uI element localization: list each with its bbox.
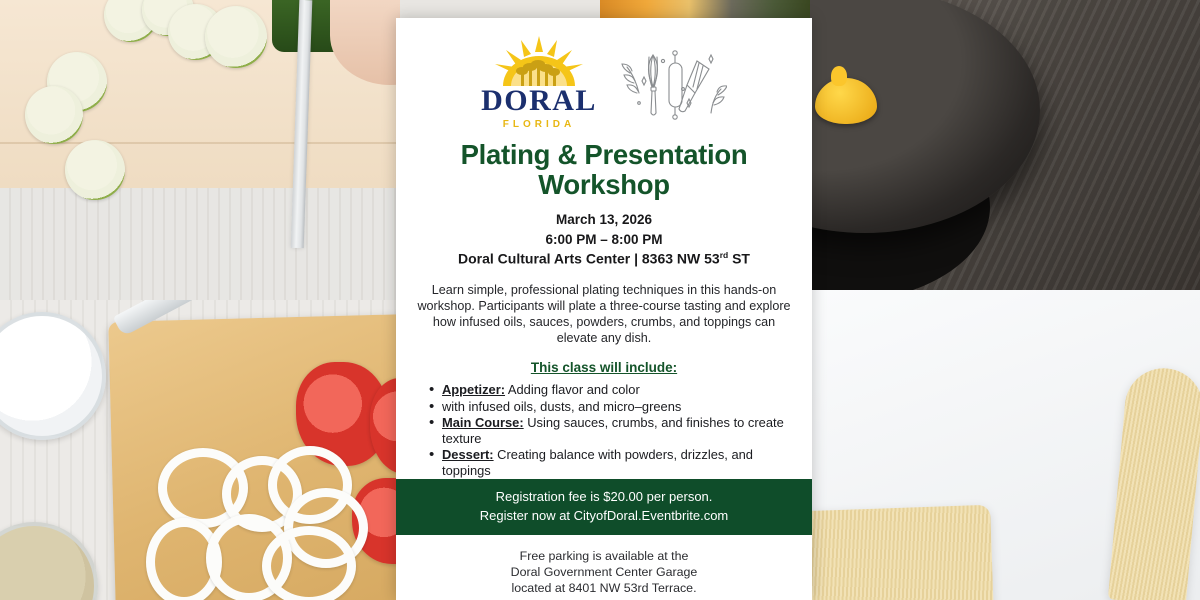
zucchini-slice bbox=[65, 140, 125, 200]
event-details: March 13, 2026 6:00 PM – 8:00 PM Doral C… bbox=[396, 210, 812, 269]
registration-fee-text: Registration fee is $20.00 per person. bbox=[406, 488, 802, 506]
title-line-2: Workshop bbox=[410, 170, 798, 200]
doral-city-logo: DORAL FLORIDA bbox=[481, 36, 597, 130]
bamboo-spatula bbox=[1108, 365, 1200, 600]
flyer-card: DORAL FLORIDA bbox=[396, 18, 812, 600]
title-line-1: Plating & Presentation bbox=[410, 140, 798, 170]
event-venue: Doral Cultural Arts Center | 8363 NW 53r… bbox=[396, 249, 812, 270]
intro-paragraph: Learn simple, professional plating techn… bbox=[414, 283, 794, 347]
list-item: Appetizer: Adding flavor and color bbox=[442, 382, 784, 397]
bullet-text: Adding flavor and color bbox=[505, 382, 640, 397]
event-flyer-screenshot: DORAL FLORIDA bbox=[0, 0, 1200, 600]
bamboo-utensils-photo bbox=[810, 290, 1200, 600]
parking-line-1: Free parking is available at the bbox=[406, 548, 802, 564]
plated-dish-dark-plate-photo bbox=[810, 0, 1200, 290]
parking-info: Free parking is available at the Doral G… bbox=[396, 535, 812, 600]
bullet-label: Main Course: bbox=[442, 415, 524, 430]
bullet-label: Appetizer: bbox=[442, 382, 505, 397]
peppercorn-bowl bbox=[0, 522, 98, 600]
zucchini-slice bbox=[205, 6, 267, 68]
header-logo-row: DORAL FLORIDA bbox=[396, 18, 812, 134]
list-item: Dessert: Creating balance with powders, … bbox=[442, 447, 784, 478]
bullet-label: Dessert: bbox=[442, 447, 494, 462]
parking-line-3: located at 8401 NW 53rd Terrace. bbox=[406, 580, 802, 596]
event-date: March 13, 2026 bbox=[396, 210, 812, 229]
list-item: with infused oils, dusts, and micro–gree… bbox=[442, 399, 784, 414]
registration-link-text[interactable]: Register now at CityofDoral.Eventbrite.c… bbox=[406, 507, 802, 525]
venue-suffix: ST bbox=[728, 250, 750, 266]
ingredients-cutting-board-photo bbox=[0, 300, 400, 600]
parking-line-2: Doral Government Center Garage bbox=[406, 564, 802, 580]
sun-icon bbox=[491, 36, 587, 88]
page-title: Plating & Presentation Workshop bbox=[410, 140, 798, 199]
table-surface bbox=[0, 188, 400, 300]
bamboo-spatula bbox=[810, 505, 994, 600]
venue-ordinal-suffix: rd bbox=[720, 250, 729, 260]
class-includes-list: Appetizer: Adding flavor and color with … bbox=[396, 382, 812, 479]
logo-city-name: DORAL bbox=[481, 86, 597, 116]
onion-ring bbox=[262, 526, 356, 600]
include-heading: This class will include: bbox=[396, 360, 812, 375]
zucchini-slice bbox=[25, 86, 83, 144]
list-item: Main Course: Using sauces, crumbs, and f… bbox=[442, 415, 784, 446]
logo-state-name: FLORIDA bbox=[503, 119, 575, 130]
zucchini-cutting-board-photo bbox=[0, 0, 400, 300]
kitchen-utensils-line-art-icon bbox=[617, 43, 727, 123]
event-time: 6:00 PM – 8:00 PM bbox=[396, 230, 812, 249]
salt-bowl bbox=[0, 312, 106, 440]
registration-banner: Registration fee is $20.00 per person. R… bbox=[396, 479, 812, 535]
bullet-text: with infused oils, dusts, and micro–gree… bbox=[442, 399, 681, 414]
venue-prefix: Doral Cultural Arts Center | 8363 NW 53 bbox=[458, 250, 720, 266]
